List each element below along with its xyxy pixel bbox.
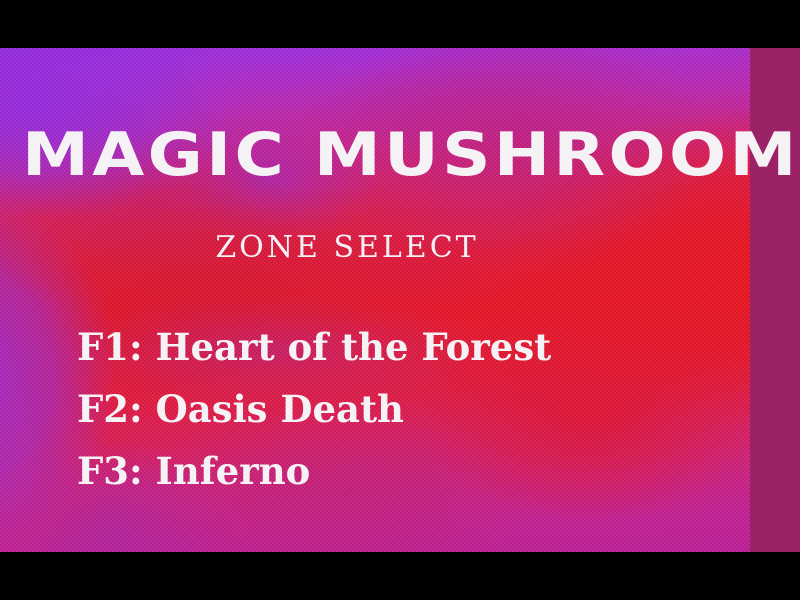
letterbox-bar-bottom <box>0 552 800 600</box>
game-title: MAGIC MUSHROOM <box>22 126 800 184</box>
zone-menu-item-f3[interactable]: F3: Inferno <box>77 440 551 502</box>
game-screen: MAGIC MUSHROOM ZONE SELECT F1: Heart of … <box>0 0 800 600</box>
zone-menu-item-f1[interactable]: F1: Heart of the Forest <box>77 316 551 378</box>
zone-select-menu: F1: Heart of the Forest F2: Oasis Death … <box>77 316 551 502</box>
zone-menu-item-f2[interactable]: F2: Oasis Death <box>77 378 551 440</box>
zone-select-subtitle: ZONE SELECT <box>0 230 694 265</box>
letterbox-bar-top <box>0 0 800 48</box>
menu-text-layer: MAGIC MUSHROOM ZONE SELECT F1: Heart of … <box>0 48 800 552</box>
